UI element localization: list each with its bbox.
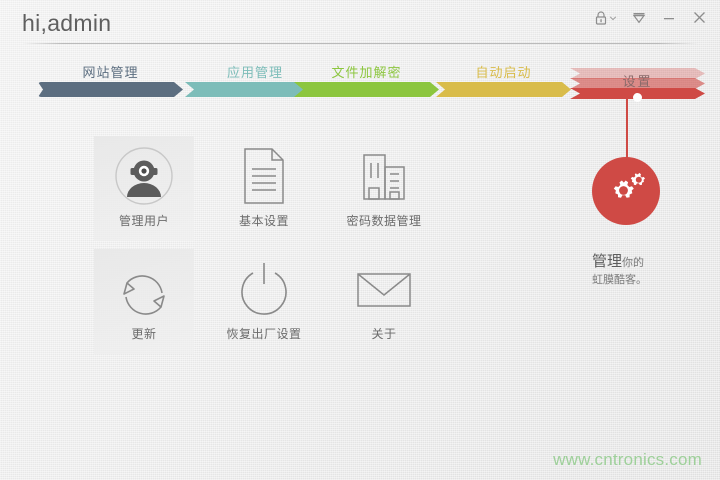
envelope-glyph [353, 266, 415, 312]
tile-password-data-management[interactable]: 密码数据管理 [334, 136, 434, 241]
settings-tile-grid: 管理用户 基本设置 [84, 134, 444, 360]
side-panel-line-1: 管理你的 [592, 250, 702, 273]
tile-label: 管理用户 [119, 212, 169, 229]
page-title: hi,admin [22, 10, 111, 37]
document-glyph [238, 145, 290, 207]
power-icon [235, 253, 293, 325]
tile-label: 基本设置 [239, 212, 289, 229]
title-bar-divider [22, 43, 698, 44]
nav-item-file-encryption[interactable]: 文件加解密 [294, 82, 439, 97]
tile-basic-settings[interactable]: 基本设置 [214, 136, 314, 241]
filter-glyph [631, 10, 647, 26]
lock-icon[interactable] [594, 10, 617, 26]
nav-item-autostart[interactable]: 自动启动 [436, 82, 571, 97]
side-panel-line-1-rest: 你的 [622, 257, 644, 269]
nav-item-label: 设置 [570, 71, 705, 90]
refresh-glyph [114, 259, 174, 319]
user-circle-glyph [113, 145, 175, 207]
user-circle-icon [113, 140, 175, 212]
tile-label: 恢复出厂设置 [226, 325, 301, 342]
close-icon[interactable] [691, 9, 708, 26]
nav-chevron [436, 82, 571, 97]
tile-label: 更新 [131, 325, 156, 342]
minimize-icon[interactable] [661, 10, 677, 26]
close-glyph [691, 9, 708, 26]
minimize-glyph [661, 10, 677, 26]
tile-update[interactable]: 更新 [94, 249, 194, 354]
document-icon [238, 140, 290, 212]
active-indicator-dot [633, 93, 642, 102]
nav-chevron [38, 82, 183, 97]
side-panel-line-2: 虹膜酷客。 [592, 273, 702, 289]
app-window: hi,admin [0, 0, 720, 480]
nav-item-label: 自动启动 [436, 62, 571, 81]
building-glyph [355, 147, 413, 205]
gears-glyph [603, 170, 649, 212]
nav-item-label: 网站管理 [38, 62, 183, 81]
watermark: www.cntronics.com [553, 450, 702, 470]
tile-about[interactable]: 关于 [334, 249, 434, 354]
nav-item-settings-active[interactable]: 设置 [570, 68, 705, 98]
tile-factory-reset[interactable]: 恢复出厂设置 [214, 249, 314, 354]
side-panel-description: 管理你的 虹膜酷客。 [592, 250, 702, 289]
nav-item-label: 文件加解密 [294, 62, 439, 81]
breadcrumb: 网站管理 应用管理 文件加解密 自动启动 设置 [30, 60, 694, 106]
chevron-down-icon [609, 14, 617, 22]
tile-label: 密码数据管理 [346, 212, 421, 229]
side-panel-line-1-emphasis: 管理 [592, 253, 622, 270]
window-controls [594, 9, 708, 26]
filter-icon[interactable] [631, 10, 647, 26]
tile-manage-users[interactable]: 管理用户 [94, 136, 194, 241]
nav-item-website[interactable]: 网站管理 [38, 82, 183, 97]
refresh-icon [114, 253, 174, 325]
envelope-icon [353, 253, 415, 325]
title-bar: hi,admin [0, 0, 720, 44]
gears-icon [592, 157, 660, 225]
nav-chevron [294, 82, 439, 97]
tile-label: 关于 [371, 325, 396, 342]
power-glyph [235, 259, 293, 319]
lock-glyph [594, 10, 608, 26]
building-icon [355, 140, 413, 212]
